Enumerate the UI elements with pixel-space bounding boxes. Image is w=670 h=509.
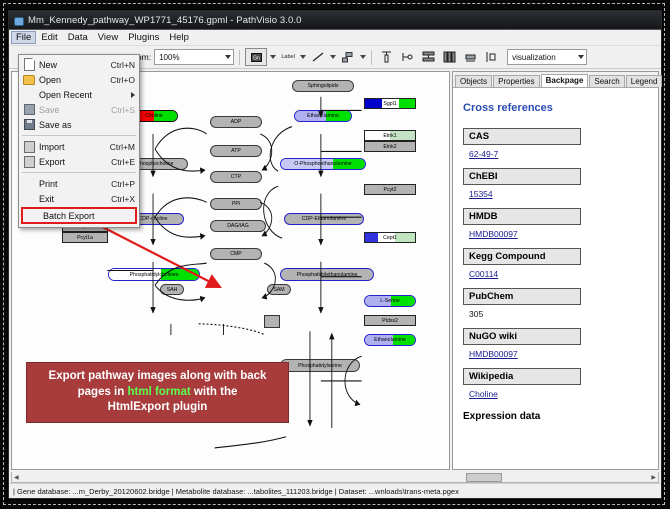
- file-menu-item-new[interactable]: New Ctrl+N: [19, 57, 139, 72]
- menu-help[interactable]: Help: [164, 31, 194, 44]
- chevron-down-icon-2: [578, 55, 584, 59]
- xref-row-hmdb: HMDB HMDB00097: [463, 208, 648, 239]
- side-panel-tabs[interactable]: Objects Properties Backpage Search Legen…: [453, 72, 658, 87]
- xref-source-kegg: Kegg Compound: [463, 248, 581, 265]
- same-height-icon[interactable]: [482, 48, 500, 66]
- xref-source-chebi: ChEBI: [463, 168, 581, 185]
- status-text: | Gene database: ...m_Derby_20120602.bri…: [13, 487, 459, 496]
- file-menu-accel: Ctrl+S: [111, 105, 135, 115]
- menu-plugins[interactable]: Plugins: [123, 31, 164, 44]
- shape-dropdown-icon[interactable]: [360, 55, 366, 59]
- file-menu-label: Import: [39, 142, 110, 152]
- xref-value-wikipedia[interactable]: Choline: [469, 389, 648, 399]
- xref-row-chebi: ChEBI 15354: [463, 168, 648, 199]
- file-menu-separator-2: [22, 172, 136, 173]
- menu-file[interactable]: File: [11, 31, 36, 44]
- tab-legend[interactable]: Legend: [626, 75, 663, 87]
- file-menu-dropdown[interactable]: New Ctrl+N Open Ctrl+O Open Recent Save …: [18, 54, 140, 228]
- file-menu-accel: Ctrl+P: [111, 179, 135, 189]
- file-menu-label: Open Recent: [39, 90, 131, 100]
- svg-text:Gn: Gn: [253, 55, 260, 61]
- file-menu-accel: Ctrl+N: [111, 60, 135, 70]
- blank-icon: [23, 89, 35, 101]
- label-dropdown-icon[interactable]: [300, 55, 306, 59]
- file-menu-item-export[interactable]: Export Ctrl+E: [19, 154, 139, 169]
- menu-data[interactable]: Data: [63, 31, 93, 44]
- menu-view[interactable]: View: [93, 31, 123, 44]
- file-menu-item-import[interactable]: Import Ctrl+M: [19, 139, 139, 154]
- blank-icon-3: [23, 193, 35, 205]
- new-document-icon: [23, 59, 35, 71]
- scrollbar-thumb[interactable]: [466, 473, 502, 482]
- xref-row-cas: CAS 62-49-7: [463, 128, 648, 159]
- align-left-icon[interactable]: [398, 48, 416, 66]
- xref-value-chebi[interactable]: 15354: [469, 189, 648, 199]
- open-folder-icon: [23, 74, 35, 86]
- tab-search[interactable]: Search: [589, 75, 624, 87]
- same-width-icon[interactable]: [461, 48, 479, 66]
- file-menu-label: Save: [39, 105, 111, 115]
- shape-icon[interactable]: [339, 48, 357, 66]
- callout-line-2: pages in html format with the: [31, 385, 284, 401]
- tab-objects[interactable]: Objects: [455, 75, 492, 87]
- scroll-right-icon[interactable]: ▶: [649, 474, 658, 481]
- callout-line2-post: with the: [191, 386, 238, 398]
- file-menu-label: Save as: [39, 120, 135, 130]
- visualization-combo[interactable]: visualization: [507, 49, 587, 65]
- file-menu-item-open[interactable]: Open Ctrl+O: [19, 72, 139, 87]
- xref-value-nugo[interactable]: HMDB00097: [469, 349, 648, 359]
- file-menu-item-print[interactable]: Print Ctrl+P: [19, 176, 139, 191]
- menu-bar[interactable]: File Edit Data View Plugins Help: [9, 30, 661, 46]
- import-icon: [23, 141, 35, 153]
- xref-row-kegg: Kegg Compound C00114: [463, 248, 648, 279]
- label-icon[interactable]: Label: [279, 48, 297, 66]
- file-menu-item-save: Save Ctrl+S: [19, 102, 139, 117]
- file-menu-accel: Ctrl+M: [110, 142, 135, 152]
- xref-source-nugo: NuGO wiki: [463, 328, 581, 345]
- save-as-icon: [23, 119, 35, 131]
- scroll-left-icon[interactable]: ◀: [12, 474, 21, 481]
- file-menu-label: Export: [39, 157, 111, 167]
- xref-value-pubchem: 305: [469, 309, 648, 319]
- window-title: Mm_Kennedy_pathway_WP1771_45176.gpml - P…: [28, 15, 302, 26]
- file-menu-label: Exit: [39, 194, 111, 204]
- xref-value-hmdb[interactable]: HMDB00097: [469, 229, 648, 239]
- file-menu-accel: Ctrl+E: [111, 157, 135, 167]
- xref-source-pubchem: PubChem: [463, 288, 581, 305]
- annotation-callout: Export pathway images along with back pa…: [26, 362, 289, 423]
- file-menu-accel: Ctrl+X: [111, 194, 135, 204]
- expression-data-title: Expression data: [463, 411, 648, 422]
- save-icon: [23, 104, 35, 116]
- xref-value-cas[interactable]: 62-49-7: [469, 149, 648, 159]
- xref-row-wikipedia: Wikipedia Choline: [463, 368, 648, 399]
- xref-row-pubchem: PubChem 305: [463, 288, 648, 319]
- export-icon: [23, 156, 35, 168]
- menu-edit[interactable]: Edit: [36, 31, 62, 44]
- callout-line-1: Export pathway images along with back: [31, 369, 284, 385]
- xref-value-kegg[interactable]: C00114: [469, 269, 648, 279]
- status-bar: | Gene database: ...m_Derby_20120602.bri…: [9, 483, 661, 498]
- datanode-icon[interactable]: Gn: [245, 48, 267, 66]
- side-panel: Objects Properties Backpage Search Legen…: [452, 71, 659, 470]
- align-top-icon[interactable]: [377, 48, 395, 66]
- cross-references-title: Cross references: [463, 102, 648, 114]
- horizontal-scrollbar[interactable]: ◀ ▶: [11, 472, 659, 483]
- toolbar-separator: [239, 50, 240, 65]
- file-menu-label: Open: [39, 75, 110, 85]
- visualization-value: visualization: [512, 53, 556, 62]
- label-button-text: Label: [281, 54, 294, 60]
- tab-backpage[interactable]: Backpage: [541, 74, 589, 87]
- distribute-horizontal-icon[interactable]: [440, 48, 458, 66]
- xref-source-wikipedia: Wikipedia: [463, 368, 581, 385]
- file-menu-separator-1: [22, 135, 136, 136]
- xref-row-nugo: NuGO wiki HMDB00097: [463, 328, 648, 359]
- file-menu-accel: Ctrl+O: [110, 75, 135, 85]
- backpage-content: Cross references CAS 62-49-7 ChEBI 15354…: [453, 87, 658, 469]
- zoom-combo[interactable]: 100%: [154, 49, 234, 65]
- toolbar-separator-2: [371, 50, 372, 65]
- xref-source-hmdb: HMDB: [463, 208, 581, 225]
- line-icon[interactable]: [309, 48, 327, 66]
- file-menu-item-open-recent[interactable]: Open Recent: [19, 87, 139, 102]
- zoom-value: 100%: [159, 53, 179, 62]
- file-menu-item-batch-export[interactable]: Batch Export: [21, 207, 137, 224]
- pathvisio-window: Mm_Kennedy_pathway_WP1771_45176.gpml - P…: [8, 10, 662, 499]
- screen-root: Mm_Kennedy_pathway_WP1771_45176.gpml - P…: [0, 0, 670, 509]
- file-menu-label: New: [39, 60, 111, 70]
- line-dropdown-icon[interactable]: [330, 55, 336, 59]
- file-menu-label: Print: [39, 179, 111, 189]
- file-menu-item-save-as[interactable]: Save as: [19, 117, 139, 132]
- submenu-arrow-icon: [131, 92, 135, 98]
- file-menu-label: Batch Export: [43, 211, 131, 221]
- blank-icon-4: [27, 210, 39, 222]
- title-bar: Mm_Kennedy_pathway_WP1771_45176.gpml - P…: [9, 11, 661, 30]
- datanode-dropdown-icon[interactable]: [270, 55, 276, 59]
- blank-icon-2: [23, 178, 35, 190]
- callout-line-3: HtmlExport plugin: [31, 400, 284, 416]
- callout-line2-pre: pages in: [78, 386, 128, 398]
- chevron-down-icon: [225, 55, 231, 59]
- file-menu-item-exit[interactable]: Exit Ctrl+X: [19, 191, 139, 206]
- pathvisio-icon: [13, 15, 24, 26]
- distribute-vertical-icon[interactable]: [419, 48, 437, 66]
- tab-properties[interactable]: Properties: [493, 75, 539, 87]
- xref-source-cas: CAS: [463, 128, 581, 145]
- callout-highlight: html format: [127, 386, 190, 398]
